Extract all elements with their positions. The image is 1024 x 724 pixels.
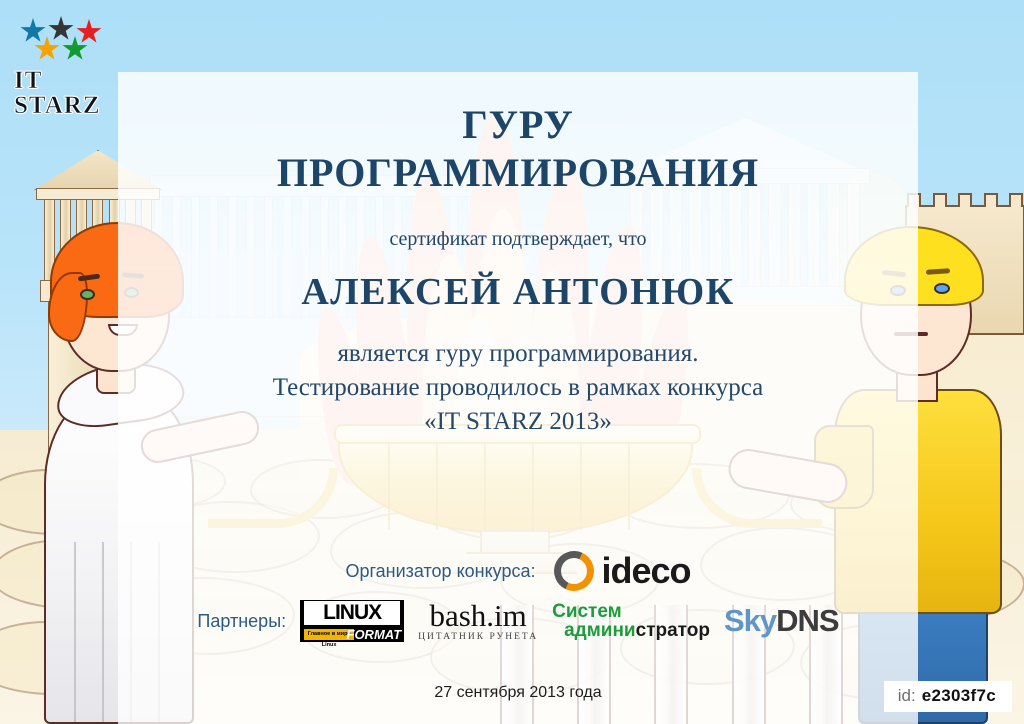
- certificate-date: 27 сентября 2013 года: [118, 684, 918, 702]
- woman-eye-left: [80, 289, 95, 300]
- id-label: id:: [898, 686, 916, 705]
- sysadmin-line-1: Систем: [552, 602, 710, 621]
- body-line-1: является гуру программирования.: [118, 337, 918, 371]
- body-line-3: «IT STARZ 2013»: [118, 405, 918, 439]
- skydns-part-dns: DNS: [776, 603, 838, 638]
- man-eye-right: [934, 283, 950, 294]
- star-blue-icon: [20, 18, 46, 44]
- sysadmin-line-2a: админи: [564, 620, 636, 641]
- sysadmin-line-2b: стратор: [636, 620, 710, 641]
- partners-row: Партнеры: LINUX Главное в мире Linux FOR…: [118, 600, 918, 642]
- linux-format-suffix: FORMAT: [347, 628, 402, 641]
- certificate-canvas: IT STARZ ГУРУ ПРОГРАММИРОВАНИЯ сертифика…: [0, 0, 1024, 724]
- star-red-icon: [76, 19, 102, 45]
- partner-sysadmin-logo: Систем администратор: [552, 602, 710, 640]
- ideco-logo: ideco: [554, 550, 691, 592]
- partner-linux-format-logo: LINUX Главное в мире Linux FORMAT: [300, 600, 404, 642]
- ideco-wordmark: ideco: [602, 550, 691, 592]
- organizer-row: Организатор конкурса: ideco: [118, 550, 918, 592]
- linux-format-word: LINUX: [304, 601, 400, 625]
- logo-stars: [14, 16, 114, 62]
- ideco-ring-icon: [554, 551, 594, 591]
- title-line-2: ПРОГРАММИРОВАНИЯ: [118, 152, 918, 194]
- certificate-body: является гуру программирования. Тестиров…: [118, 337, 918, 438]
- id-value: e2303f7c: [922, 686, 996, 705]
- sysadmin-line-2: администратор: [564, 621, 710, 640]
- star-orange-icon: [34, 36, 60, 62]
- bash-im-tagline: ЦИТАТНИК РУНЕТА: [418, 632, 538, 642]
- recipient-name: АЛЕКСЕЙ АНТОНЮК: [118, 270, 918, 314]
- certificate-id-badge: id:e2303f7c: [884, 681, 1012, 712]
- certificate-title: ГУРУ ПРОГРАММИРОВАНИЯ: [118, 104, 918, 195]
- organizer-label: Организатор конкурса:: [345, 561, 535, 582]
- certificate-content: ГУРУ ПРОГРАММИРОВАНИЯ сертификат подтвер…: [118, 72, 918, 724]
- skydns-part-sky: Sky: [724, 603, 776, 638]
- bash-im-word: bash.im: [418, 600, 538, 631]
- body-line-2: Тестирование проводилось в рамках конкур…: [118, 371, 918, 405]
- partner-bash-im-logo: bash.im ЦИТАТНИК РУНЕТА: [418, 600, 538, 642]
- logo-wordmark: IT STARZ: [14, 68, 118, 118]
- confirm-text: сертификат подтверждает, что: [118, 228, 918, 251]
- it-starz-logo: IT STARZ: [14, 16, 118, 98]
- star-black-icon: [48, 16, 74, 42]
- partners-label: Партнеры:: [197, 611, 286, 632]
- title-line-1: ГУРУ: [118, 104, 918, 146]
- partner-skydns-logo: SkyDNS: [724, 603, 839, 639]
